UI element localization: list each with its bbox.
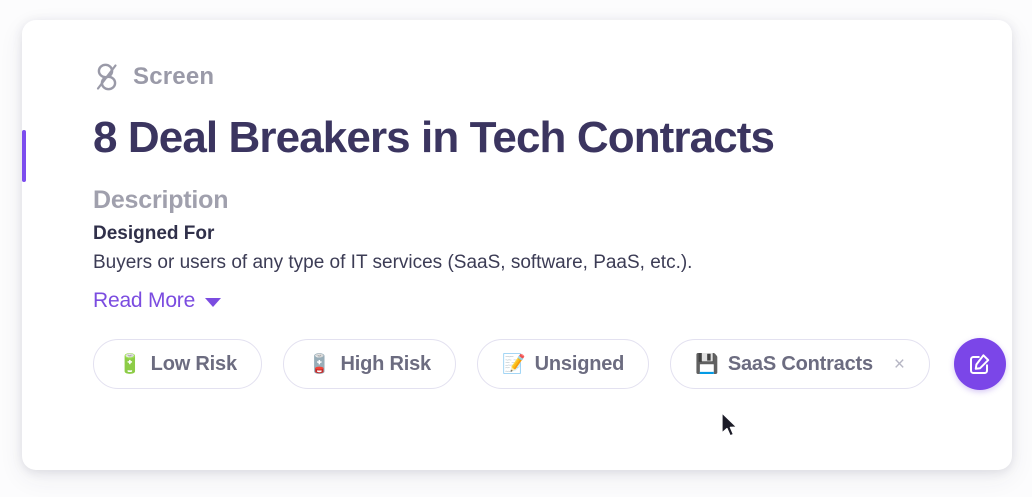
battery-low-icon: 🪫	[308, 355, 332, 374]
close-icon[interactable]: ×	[894, 355, 905, 374]
screen-logo-icon	[93, 62, 121, 92]
tag-pill-label: High Risk	[341, 353, 431, 376]
tag-list: 🔋 Low Risk 🪫 High Risk 📝 Unsigned 💾 SaaS…	[93, 338, 988, 390]
card-content: Screen 8 Deal Breakers in Tech Contracts…	[93, 20, 988, 390]
tag-pill-label: Unsigned	[535, 353, 625, 376]
read-more-button[interactable]: Read More	[93, 289, 221, 313]
tag-pill-high-risk[interactable]: 🪫 High Risk	[283, 339, 456, 389]
tag-pill-unsigned[interactable]: 📝 Unsigned	[477, 339, 649, 389]
memo-icon: 📝	[502, 355, 526, 374]
tag-pill-label: Low Risk	[151, 353, 237, 376]
tag-pill-saas-contracts[interactable]: 💾 SaaS Contracts ×	[670, 339, 930, 389]
tag-pill-label: SaaS Contracts	[728, 353, 873, 376]
screen-detail-card: Screen 8 Deal Breakers in Tech Contracts…	[22, 20, 1012, 470]
battery-full-icon: 🔋	[118, 355, 142, 374]
breadcrumb: Screen	[93, 60, 988, 94]
description-body-text: Buyers or users of any type of IT servic…	[93, 251, 988, 276]
description-section-label: Description	[93, 187, 988, 215]
floppy-disk-icon: 💾	[695, 355, 719, 374]
left-accent-bar	[22, 130, 26, 182]
tag-pill-low-risk[interactable]: 🔋 Low Risk	[93, 339, 262, 389]
edit-pencil-square-icon	[967, 351, 993, 377]
chevron-down-icon	[205, 298, 221, 307]
designed-for-subhead: Designed For	[93, 223, 988, 246]
breadcrumb-label: Screen	[133, 65, 214, 89]
page-title: 8 Deal Breakers in Tech Contracts	[93, 114, 988, 161]
read-more-label: Read More	[93, 289, 195, 313]
edit-button[interactable]	[954, 338, 1006, 390]
